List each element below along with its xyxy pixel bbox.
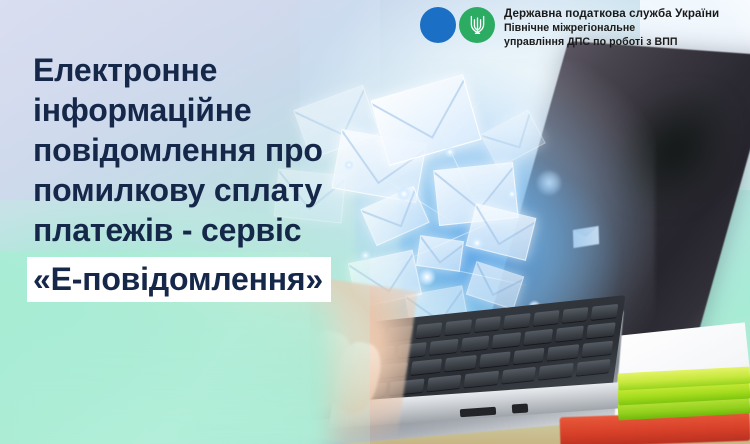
headline-line-3: повідомлення про (33, 130, 331, 170)
network-node (470, 236, 484, 250)
org-line-2: Північне міжрегіональне управління ДПС п… (504, 22, 719, 49)
usb-port (512, 403, 529, 413)
headline: Електронне інформаційне повідомлення про… (33, 50, 331, 302)
org-line-2a: Північне міжрегіональне (504, 22, 719, 36)
org-line-1: Державна податкова служба України (504, 6, 719, 21)
org-line-2b: управління ДПС по роботі з ВПП (504, 36, 719, 50)
envelope (416, 235, 464, 272)
blue-circle-icon (420, 7, 456, 43)
organisation-header: Державна податкова служба України Північ… (420, 3, 719, 49)
headline-line-2: інформаційне (33, 90, 331, 130)
network-node (506, 188, 518, 200)
network-node (418, 268, 436, 286)
network-node (444, 146, 456, 158)
network-node (344, 160, 354, 170)
banner: Державна податкова служба України Північ… (0, 0, 750, 444)
logo (420, 3, 495, 43)
headline-service-name: «Е-повідомлення» (27, 257, 331, 302)
trident-icon (459, 7, 495, 43)
headline-line-5: платежів - сервіс (33, 210, 331, 250)
headline-line-4: помилкову сплату (33, 170, 331, 210)
headline-line-1: Електронне (33, 50, 331, 90)
sticky-note-stack (618, 370, 750, 418)
network-node (396, 186, 412, 202)
organisation-name: Державна податкова служба України Північ… (504, 3, 719, 49)
